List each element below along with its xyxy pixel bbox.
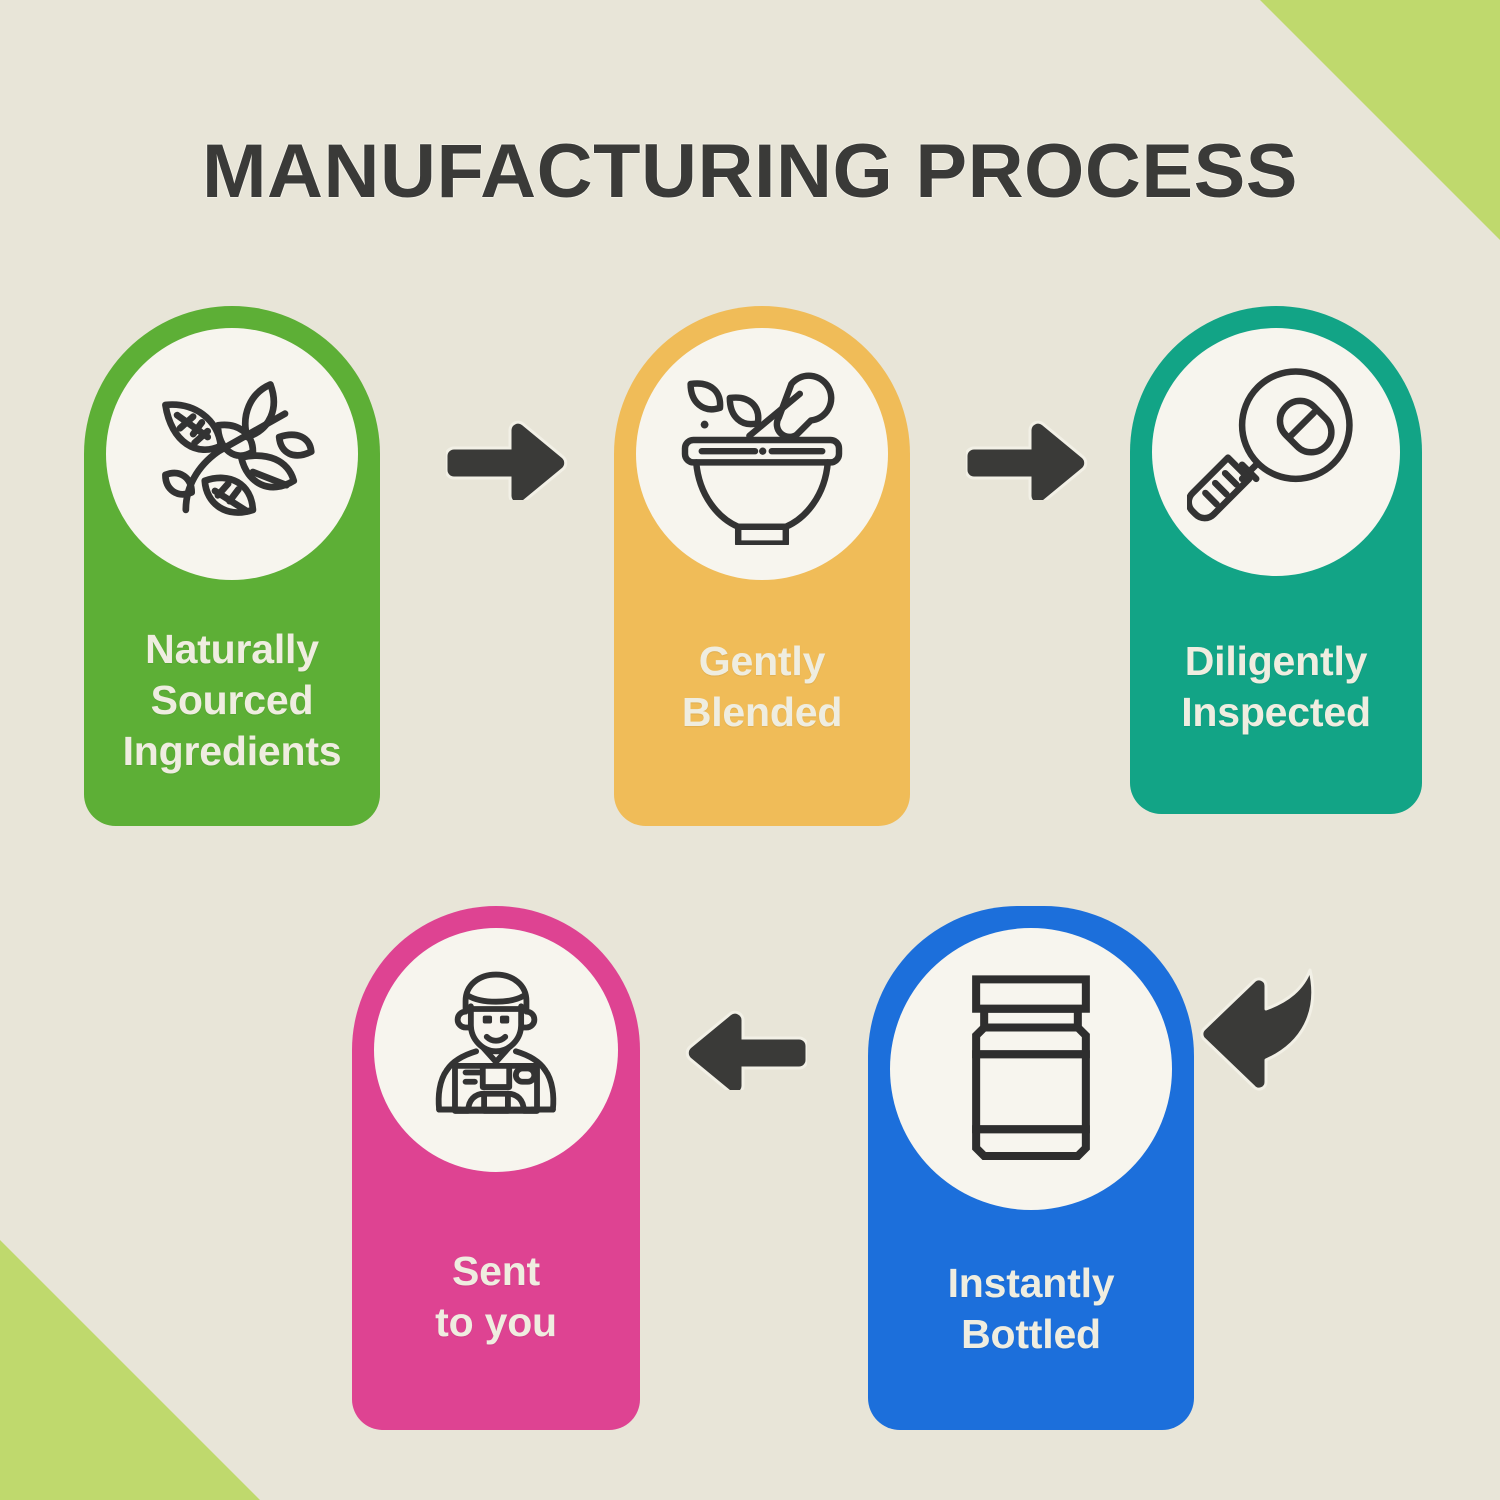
step-label: Gently Blended [614, 636, 910, 738]
magnifier-pill-icon [1187, 363, 1365, 541]
infographic-canvas: MANUFACTURING PROCESS [0, 0, 1500, 1500]
step-icon-circle [890, 928, 1172, 1210]
step-icon-circle [1152, 328, 1400, 576]
connector-arrow-2 [966, 420, 1090, 500]
delivery-person-icon [410, 964, 582, 1136]
process-step-card-2[interactable]: Gently Blended [614, 306, 910, 826]
connector-arrow-3 [683, 1010, 807, 1090]
step-label: Diligently Inspected [1130, 636, 1422, 738]
step-icon-circle [636, 328, 888, 580]
mortar-and-pestle-icon [671, 363, 853, 545]
connector-arrow-4 [1192, 962, 1332, 1094]
process-step-card-5[interactable]: Instantly Bottled [868, 906, 1194, 1430]
arrow-left-icon [683, 1010, 807, 1090]
step-label: Instantly Bottled [868, 1258, 1194, 1360]
curved-arrow-down-left-icon [1192, 962, 1332, 1094]
supplement-bottle-icon [964, 974, 1098, 1164]
herb-branch-icon [145, 367, 320, 542]
step-label: Sent to you [352, 1246, 640, 1348]
process-step-card-4[interactable]: Sent to you [352, 906, 640, 1430]
step-icon-circle [106, 328, 358, 580]
process-step-card-1[interactable]: Naturally Sourced Ingredients [84, 306, 380, 826]
step-label: Naturally Sourced Ingredients [84, 624, 380, 777]
connector-arrow-1 [446, 420, 570, 500]
arrow-right-icon [446, 420, 570, 500]
corner-accent-bottom-left [0, 1240, 260, 1500]
page-title: MANUFACTURING PROCESS [0, 128, 1500, 215]
process-step-card-3[interactable]: Diligently Inspected [1130, 306, 1422, 814]
arrow-right-icon [966, 420, 1090, 500]
step-icon-circle [374, 928, 618, 1172]
